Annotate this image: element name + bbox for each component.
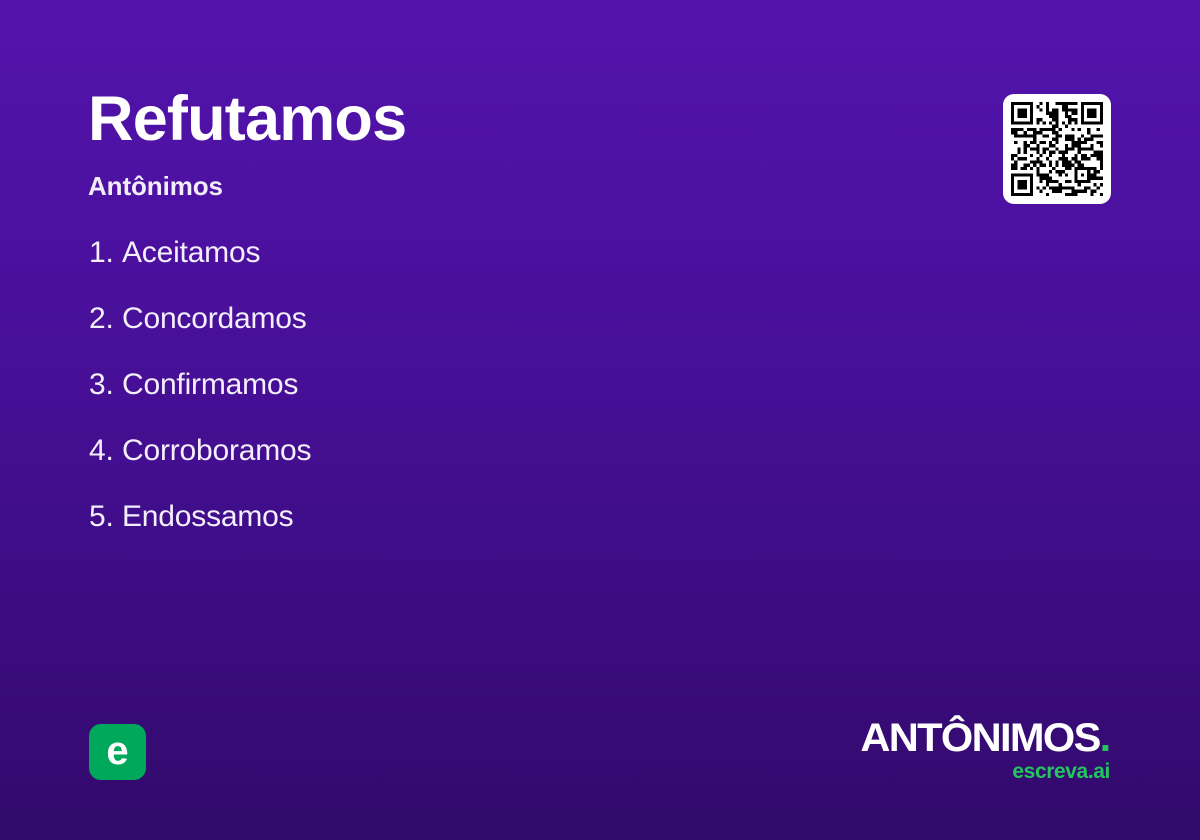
- qr-code-image: [1011, 102, 1103, 196]
- page-title: Refutamos: [88, 88, 788, 151]
- list-item-index: 1.: [89, 236, 122, 270]
- escreva-logo-letter: e: [106, 731, 128, 771]
- list-item-word: Concordamos: [122, 302, 307, 336]
- list-item-word: Corroboramos: [122, 434, 311, 468]
- list-item-word: Aceitamos: [122, 236, 260, 270]
- brand-name-dot: .: [1100, 716, 1110, 760]
- escreva-logo-icon: e: [89, 724, 146, 780]
- page-subtitle: Antônimos: [88, 171, 788, 202]
- brand-name-text: ANTÔNIMOS: [861, 716, 1100, 760]
- antonym-list: 1.Aceitamos2.Concordamos3.Confirmamos4.C…: [89, 236, 849, 566]
- qr-code[interactable]: [1003, 94, 1111, 204]
- headline-block: Refutamos Antônimos: [88, 88, 788, 202]
- brand-name: ANTÔNIMOS.: [861, 718, 1110, 758]
- brand-lockup: ANTÔNIMOS. escreva.ai: [870, 718, 1110, 782]
- brand-website: escreva.ai: [870, 761, 1110, 782]
- list-item: 2.Concordamos: [89, 302, 849, 368]
- antonym-card: Refutamos Antônimos 1.Aceitamos2.Concord…: [0, 0, 1200, 840]
- list-item-index: 3.: [89, 368, 122, 402]
- list-item: 5.Endossamos: [89, 500, 849, 566]
- list-item-index: 5.: [89, 500, 122, 534]
- list-item: 4.Corroboramos: [89, 434, 849, 500]
- list-item-word: Endossamos: [122, 500, 293, 534]
- list-item-index: 4.: [89, 434, 122, 468]
- list-item: 3.Confirmamos: [89, 368, 849, 434]
- list-item-word: Confirmamos: [122, 368, 298, 402]
- list-item: 1.Aceitamos: [89, 236, 849, 302]
- list-item-index: 2.: [89, 302, 122, 336]
